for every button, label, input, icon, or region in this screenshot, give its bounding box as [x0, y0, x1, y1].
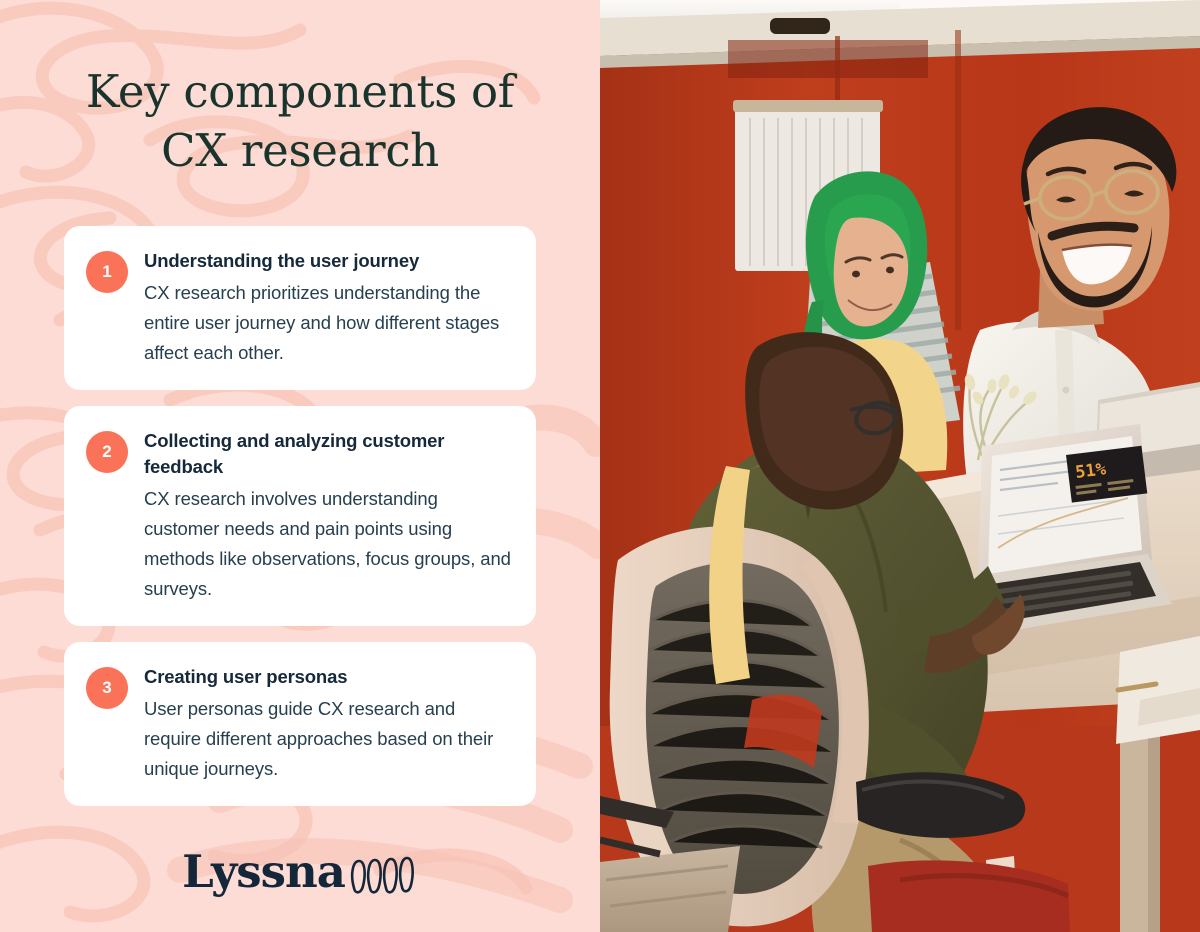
infographic-page: Key components of CX research 1 Understa… [0, 0, 1200, 932]
logo-wordmark: Lyssna [182, 849, 345, 894]
card-description: CX research involves understanding custo… [144, 484, 512, 604]
left-content: Key components of CX research 1 Understa… [0, 0, 600, 932]
card-heading: Collecting and analyzing customer feedba… [144, 428, 512, 480]
left-panel: Key components of CX research 1 Understa… [0, 0, 600, 932]
page-title-line-1: Key components of [86, 65, 514, 118]
card-heading: Understanding the user journey [144, 248, 512, 274]
card-number-badge: 2 [86, 431, 128, 473]
component-card-list: 1 Understanding the user journey CX rese… [64, 226, 536, 806]
card-description: CX research prioritizes understanding th… [144, 278, 512, 368]
card-body: Collecting and analyzing customer feedba… [144, 428, 512, 604]
component-card: 2 Collecting and analyzing customer feed… [64, 406, 536, 626]
lyssna-logo: Lyssna [182, 848, 418, 894]
lyssna-squiggle-icon [348, 854, 418, 894]
card-heading: Creating user personas [144, 664, 512, 690]
component-card: 1 Understanding the user journey CX rese… [64, 226, 536, 390]
office-team-photo: 51% [600, 0, 1200, 932]
page-title: Key components of CX research [65, 62, 535, 180]
card-body: Understanding the user journey CX resear… [144, 248, 512, 368]
card-description: User personas guide CX research and requ… [144, 694, 512, 784]
card-number-badge: 3 [86, 667, 128, 709]
card-number-badge: 1 [86, 251, 128, 293]
card-body: Creating user personas User personas gui… [144, 664, 512, 784]
page-title-line-2: CX research [161, 124, 439, 177]
component-card: 3 Creating user personas User personas g… [64, 642, 536, 806]
